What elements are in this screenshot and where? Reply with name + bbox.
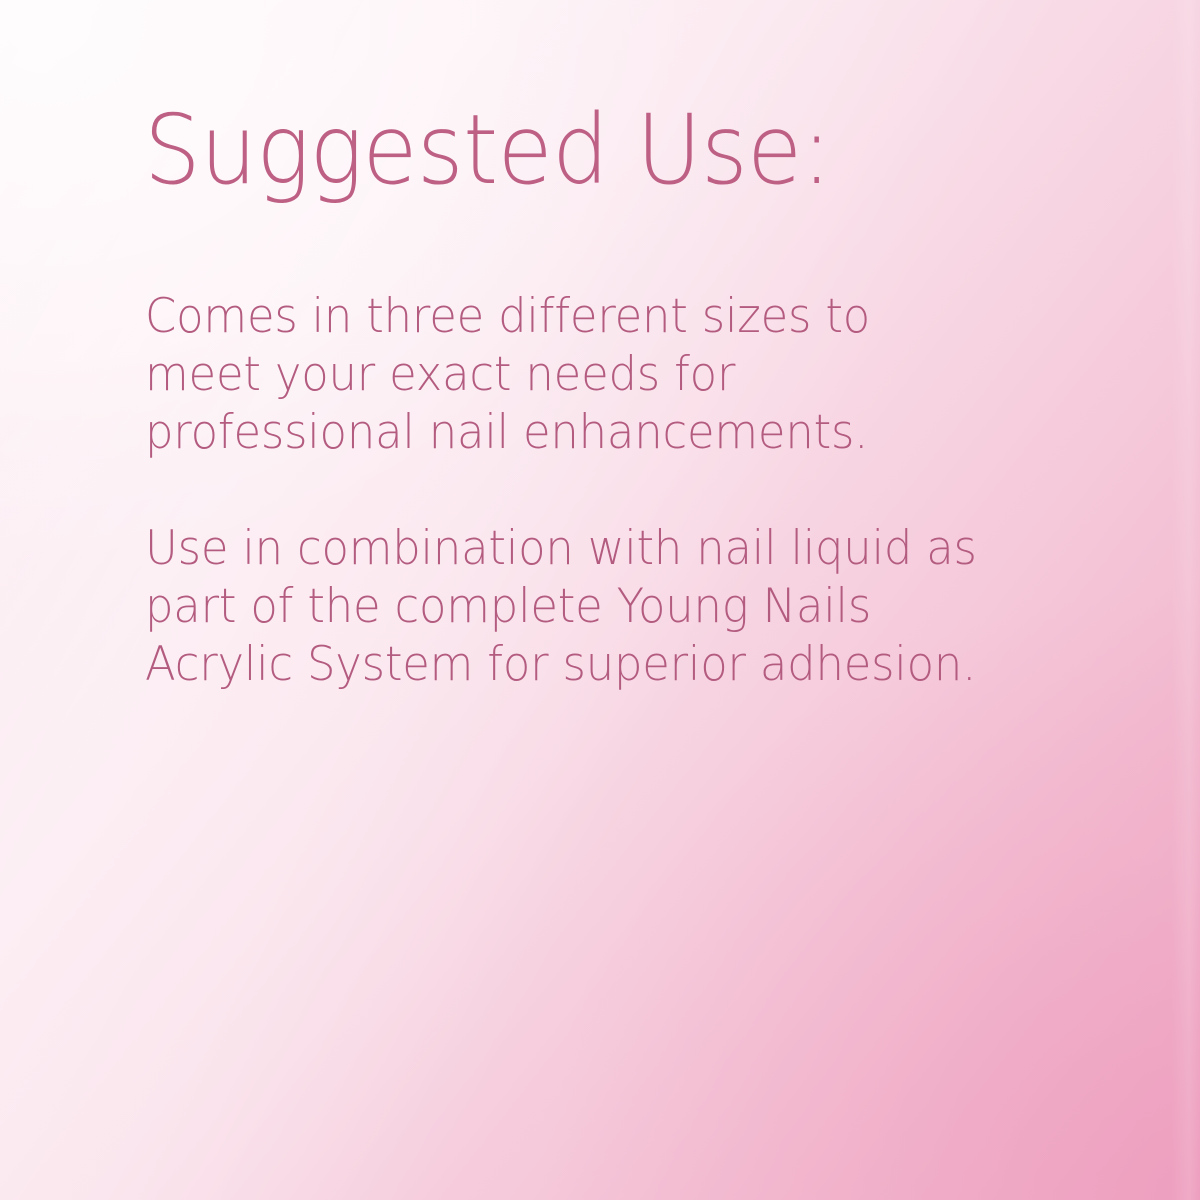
body-paragraph-usage: Use in combination with nail liquid as p… [145,520,985,694]
page-title: Suggested Use: [144,102,831,198]
body-copy: Comes in three different sizes to meet y… [145,288,1025,694]
product-info-panel: Suggested Use: Comes in three different … [0,0,1200,1200]
body-paragraph-sizes: Comes in three different sizes to meet y… [145,288,985,462]
